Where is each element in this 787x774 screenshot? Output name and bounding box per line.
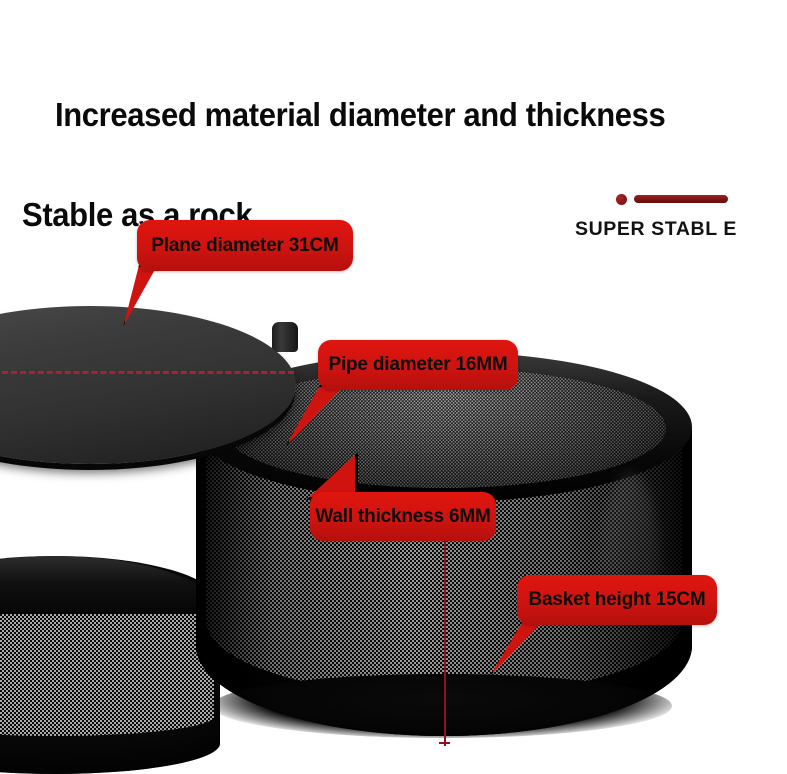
wall-measure-tick: [439, 742, 450, 744]
callout-basket-height: Basket height 15CM: [517, 575, 717, 625]
callout-wall-label: Wall thickness 6MM: [315, 506, 490, 528]
callout-basket-label: Basket height 15CM: [529, 589, 706, 611]
tabletop-diameter-dashed-line: [0, 371, 294, 374]
support-pipe: [272, 322, 298, 352]
callout-wall-thickness: Wall thickness 6MM: [310, 492, 496, 541]
product-infographic: Increased material diameter and thicknes…: [0, 0, 787, 774]
callout-plane-label: Plane diameter 31CM: [151, 235, 338, 257]
mesh-basket-lower: [0, 556, 220, 774]
basket-rim-lower: [0, 556, 220, 614]
callout-pipe-label: Pipe diameter 16MM: [328, 354, 507, 376]
wall-measure-line: [444, 540, 446, 746]
mesh-texture-lower: [0, 596, 214, 736]
basket-bottom-shadow: [212, 674, 672, 738]
basket-specular-highlight: [600, 472, 660, 662]
callout-pipe-diameter: Pipe diameter 16MM: [318, 340, 518, 390]
callout-plane-diameter: Plane diameter 31CM: [137, 220, 353, 271]
